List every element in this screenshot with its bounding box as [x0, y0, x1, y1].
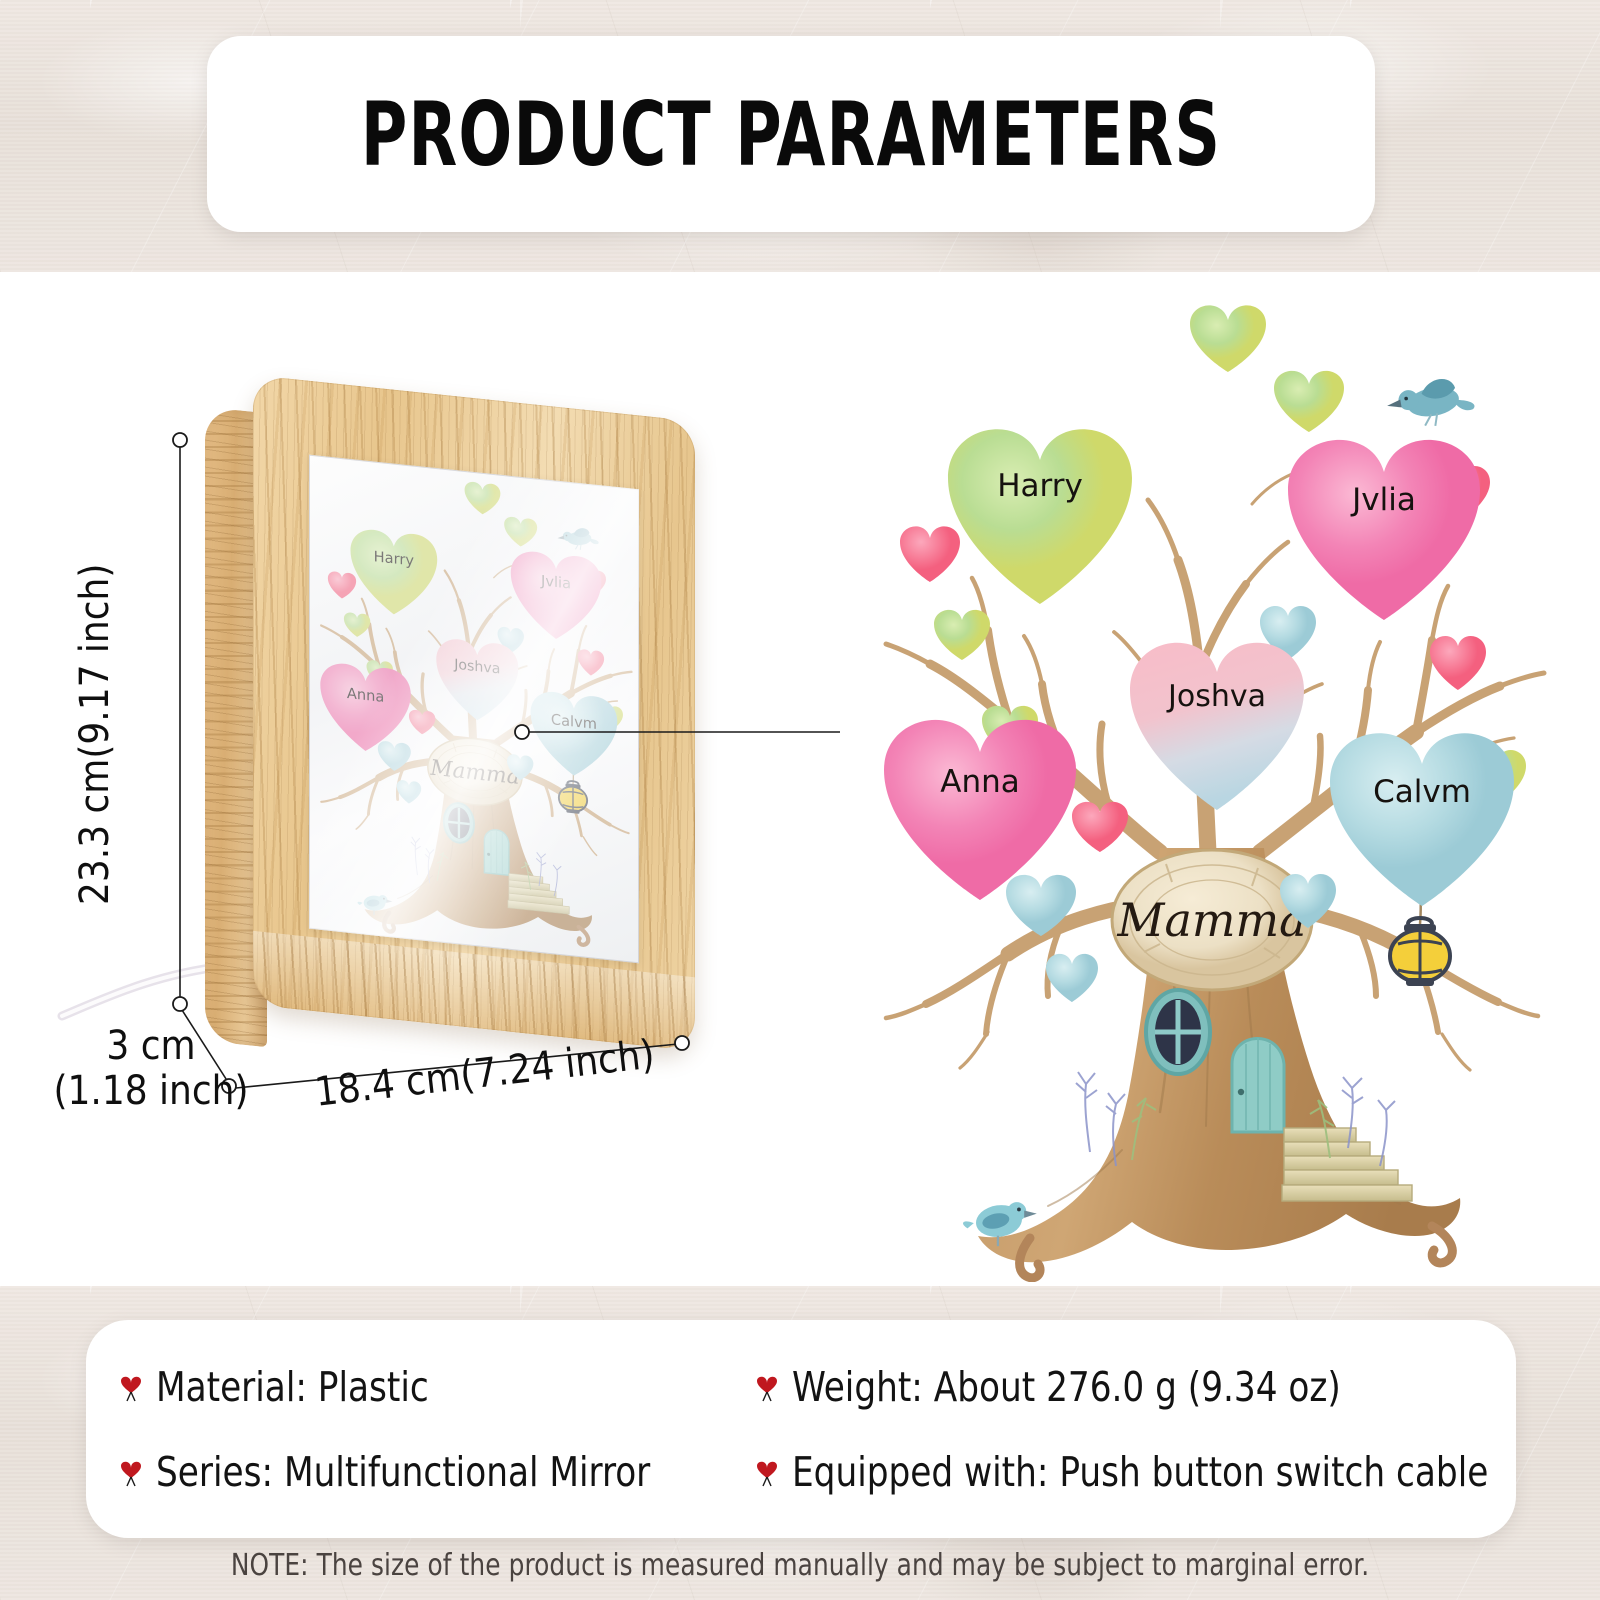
heart-calvm: Calvm [1330, 733, 1514, 906]
spec-item-weight: Weight: About 276.0 g (9.34 oz) [732, 1363, 1541, 1411]
heart-bullet-icon [756, 1457, 778, 1487]
spec-label-series: Series: Multifunctional Mirror [156, 1448, 650, 1496]
specs-grid: Material: Plastic Weight: About 276.0 g … [86, 1320, 1516, 1538]
footer-note: NOTE: The size of the product is measure… [64, 1548, 1536, 1583]
specs-card: Material: Plastic Weight: About 276.0 g … [86, 1320, 1516, 1538]
spec-label-material: Material: Plastic [156, 1363, 429, 1411]
page-title: PRODUCT PARAMETERS [324, 36, 1258, 232]
product-photo: 23.3 cm(9.17 inch) 3 cm (1.18 inch) 18.4… [0, 272, 800, 1286]
heart-name-joshva: Joshva [1166, 679, 1266, 714]
heart-name-calvm: Calvm [1373, 774, 1471, 810]
heart-joshva: Joshva [1130, 643, 1304, 810]
heart-harry: Harry [948, 429, 1132, 604]
heart-name-jvlia: Jvlia [1350, 482, 1416, 518]
trunk-plaque-name: Mamma [1116, 893, 1306, 947]
dimension-height-label: 23.3 cm(9.17 inch) [72, 605, 118, 905]
spec-item-equipped-with: Equipped with: Push button switch cable [732, 1448, 1541, 1496]
dimension-lines [0, 272, 800, 1286]
dimension-depth-cm: 3 cm [36, 1024, 266, 1069]
spec-label-weight: Weight: About 276.0 g (9.34 oz) [792, 1363, 1341, 1411]
heart-bullet-icon [756, 1372, 778, 1402]
heart-bullet-icon [120, 1372, 142, 1402]
spec-item-material: Material: Plastic [120, 1363, 732, 1411]
dimension-depth-inch: (1.18 inch) [36, 1069, 266, 1114]
spec-label-equipped-with: Equipped with: Push button switch cable [792, 1448, 1488, 1496]
heart-jvlia: Jvlia [1288, 440, 1480, 620]
heart-bullet-icon [120, 1457, 142, 1487]
dimension-depth-label: 3 cm (1.18 inch) [36, 1024, 266, 1114]
infographic-page: PRODUCT PARAMETERS [0, 0, 1600, 1600]
bird-icon [1384, 374, 1477, 434]
heart-name-harry: Harry [997, 468, 1083, 504]
title-card: PRODUCT PARAMETERS [207, 36, 1375, 232]
family-tree-artwork: Mamma [860, 292, 1560, 1282]
spec-item-series: Series: Multifunctional Mirror [120, 1448, 732, 1496]
heart-anna: Anna [884, 720, 1076, 900]
heart-name-anna: Anna [940, 764, 1020, 800]
family-tree-svg: Mamma [860, 292, 1560, 1282]
